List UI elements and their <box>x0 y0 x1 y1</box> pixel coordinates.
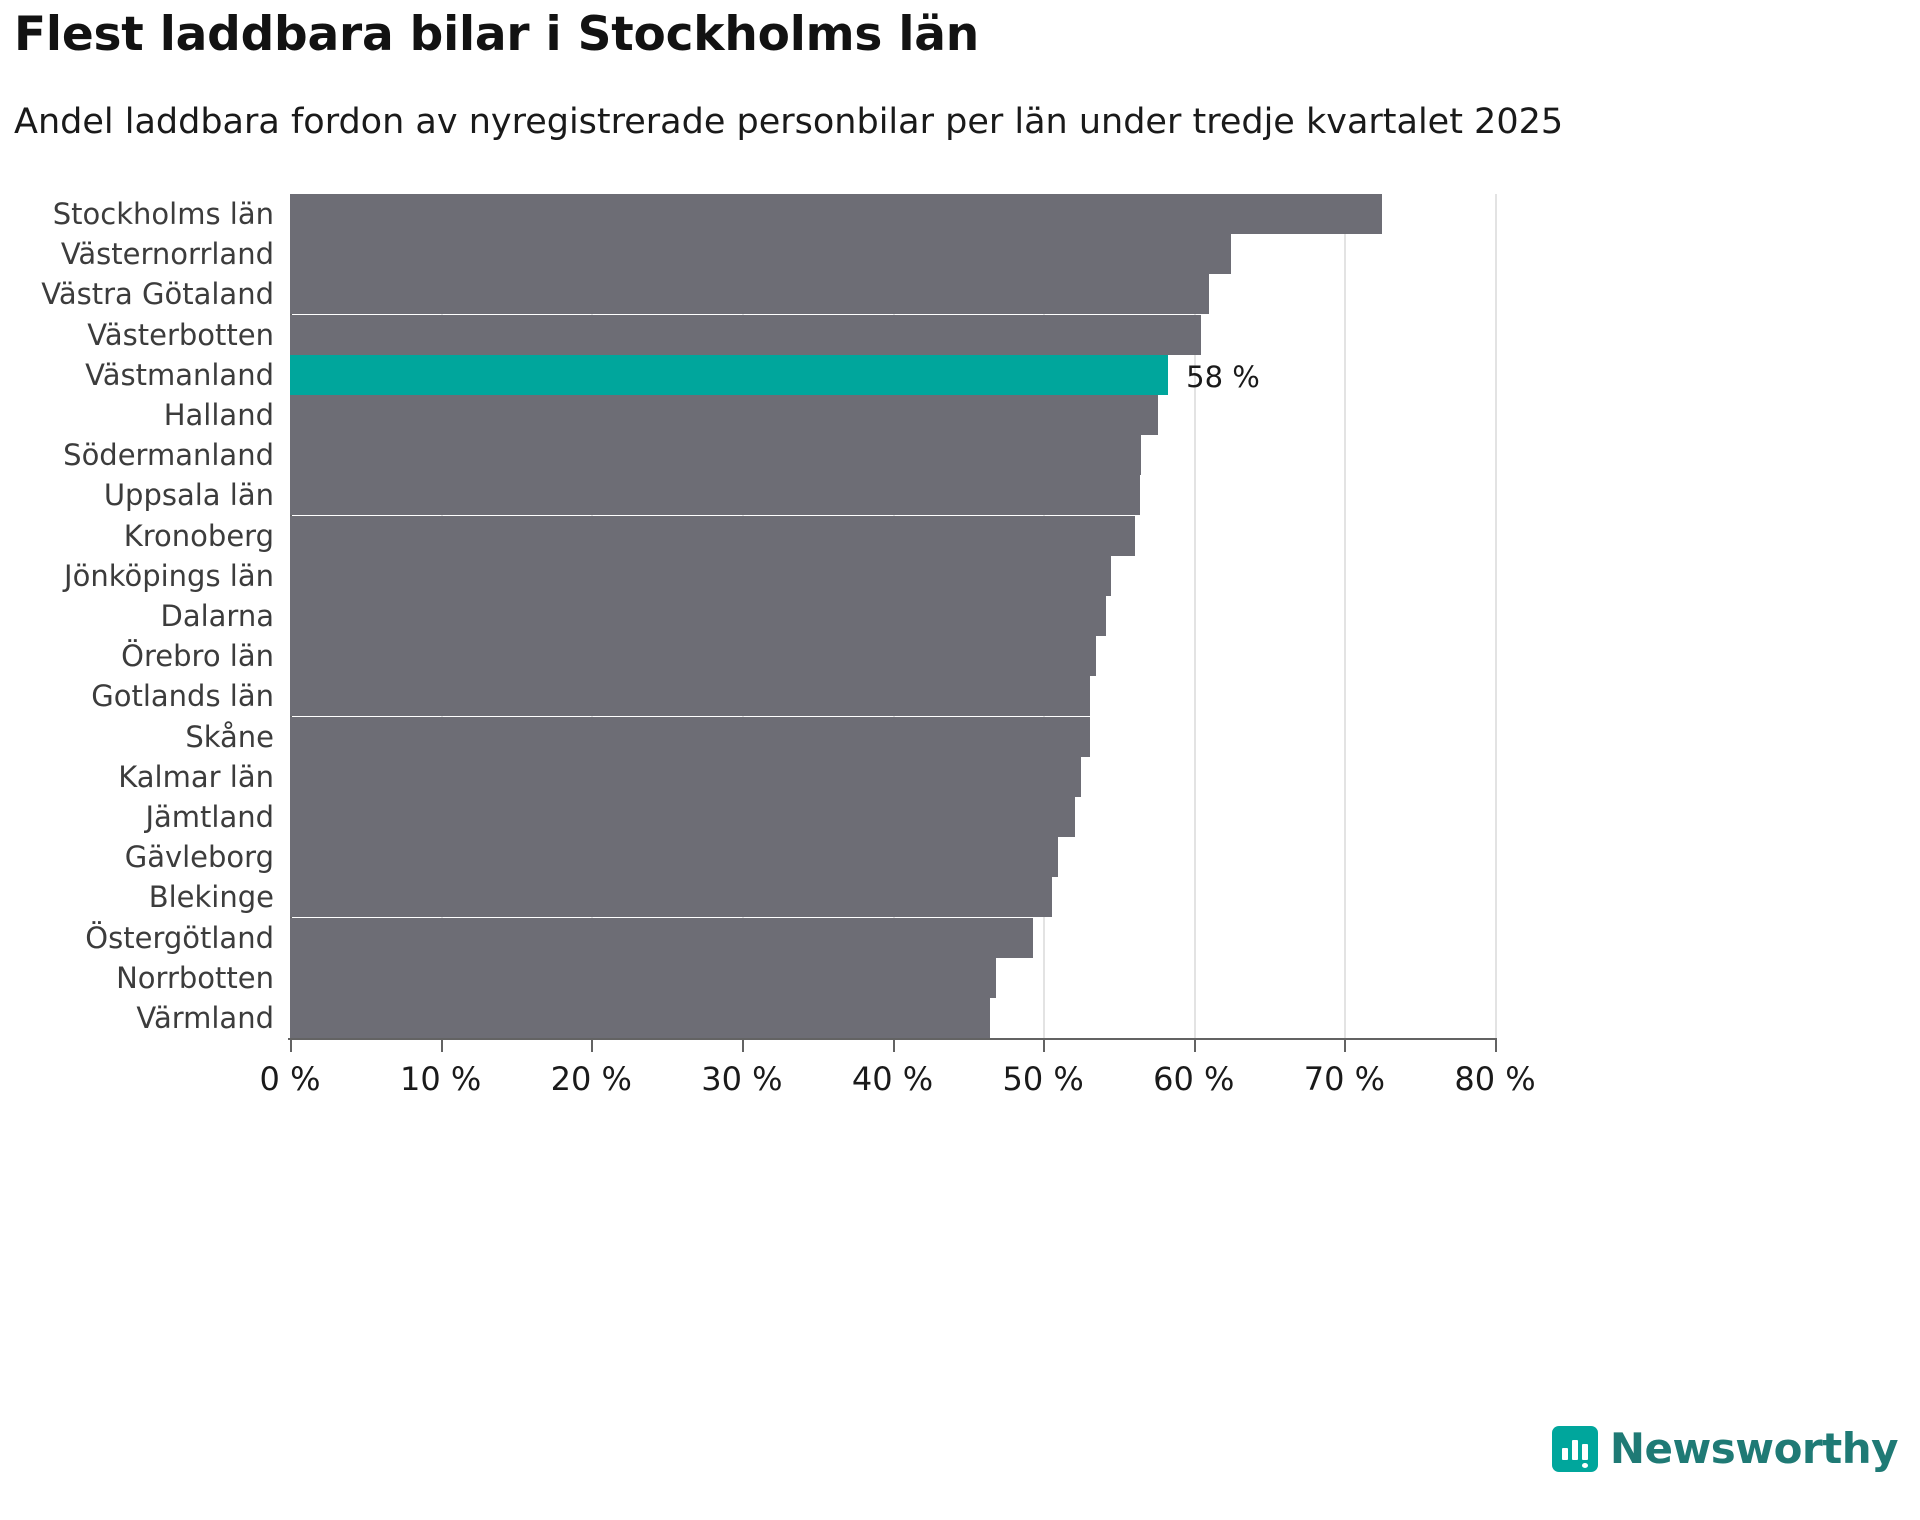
y-axis-label: Uppsala län <box>104 475 274 515</box>
bar-row <box>290 757 1495 797</box>
x-axis-tick <box>1344 1038 1346 1052</box>
bar-row: 58 % <box>290 355 1495 395</box>
bar-row <box>290 918 1495 958</box>
bar-skåne[interactable] <box>290 717 1090 757</box>
bar-västernorrland[interactable] <box>290 234 1231 274</box>
bar-värmland[interactable] <box>290 998 990 1038</box>
y-axis-label: Gotlands län <box>91 676 274 716</box>
newsworthy-logo[interactable]: Newsworthy <box>1552 1426 1898 1472</box>
y-axis-label: Kronoberg <box>124 516 274 556</box>
bar-row <box>290 717 1495 757</box>
page-subtitle: Andel laddbara fordon av nyregistrerade … <box>14 101 1914 143</box>
y-axis-label: Halland <box>164 395 274 435</box>
x-axis-tick-label: 60 % <box>1153 1060 1234 1098</box>
bar-row <box>290 998 1495 1038</box>
bar-row <box>290 435 1495 475</box>
bar-västra-götaland[interactable] <box>290 274 1209 314</box>
x-axis-tick <box>1194 1038 1196 1052</box>
bar-halland[interactable] <box>290 395 1158 435</box>
bar-jönköpings-län[interactable] <box>290 556 1111 596</box>
bar-dalarna[interactable] <box>290 596 1106 636</box>
bar-chart: 58 % Stockholms länVästernorrlandVästra … <box>0 178 1920 1358</box>
y-axis-label: Västmanland <box>85 355 274 395</box>
page-title: Flest laddbara bilar i Stockholms län <box>14 8 1904 62</box>
y-axis-label: Örebro län <box>121 636 274 676</box>
bar-row <box>290 516 1495 556</box>
x-axis-tick-label: 80 % <box>1454 1060 1535 1098</box>
y-axis-label: Kalmar län <box>118 757 274 797</box>
y-axis-label: Gävleborg <box>125 837 274 877</box>
x-axis: 0 %10 %20 %30 %40 %50 %60 %70 %80 % <box>290 1038 1495 1128</box>
bar-chart-icon <box>1552 1426 1598 1472</box>
bar-value-label: 58 % <box>1186 360 1260 394</box>
y-axis-label: Västra Götaland <box>41 274 274 314</box>
x-axis-tick-label: 40 % <box>852 1060 933 1098</box>
bar-västerbotten[interactable] <box>290 315 1201 355</box>
x-axis-tick <box>893 1038 895 1052</box>
x-axis-tick-label: 10 % <box>400 1060 481 1098</box>
bar-row <box>290 556 1495 596</box>
x-axis-tick <box>1495 1038 1497 1052</box>
y-axis-label: Jämtland <box>145 797 274 837</box>
bar-row <box>290 958 1495 998</box>
y-axis-label: Blekinge <box>149 877 274 917</box>
bar-row <box>290 596 1495 636</box>
bar-row <box>290 475 1495 515</box>
gridline <box>1495 194 1497 1038</box>
x-axis-tick <box>441 1038 443 1052</box>
bar-jämtland[interactable] <box>290 797 1075 837</box>
bar-row <box>290 676 1495 716</box>
bar-kalmar-län[interactable] <box>290 757 1081 797</box>
y-axis-label: Norrbotten <box>116 958 274 998</box>
x-axis-tick <box>591 1038 593 1052</box>
y-axis-label: Västerbotten <box>87 315 274 355</box>
bar-östergötland[interactable] <box>290 918 1033 958</box>
x-axis-tick <box>290 1038 292 1052</box>
y-axis-label: Skåne <box>185 717 274 757</box>
bar-örebro-län[interactable] <box>290 636 1096 676</box>
bar-row <box>290 837 1495 877</box>
logo-wordmark: Newsworthy <box>1610 1428 1898 1470</box>
plot-area: 58 % <box>290 194 1495 1038</box>
x-axis-tick-label: 70 % <box>1304 1060 1385 1098</box>
bar-row <box>290 797 1495 837</box>
bar-row <box>290 234 1495 274</box>
bar-row <box>290 395 1495 435</box>
y-axis-label: Stockholms län <box>53 194 274 234</box>
bar-row <box>290 315 1495 355</box>
bar-södermanland[interactable] <box>290 435 1141 475</box>
bar-row <box>290 194 1495 234</box>
y-axis-label: Östergötland <box>85 918 274 958</box>
y-axis-label: Västernorrland <box>61 234 274 274</box>
bar-row <box>290 877 1495 917</box>
x-axis-tick-label: 50 % <box>1002 1060 1083 1098</box>
bar-kronoberg[interactable] <box>290 516 1135 556</box>
y-axis-label: Södermanland <box>63 435 274 475</box>
x-axis-tick-label: 0 % <box>260 1060 321 1098</box>
bar-row <box>290 274 1495 314</box>
bar-västmanland[interactable] <box>290 355 1168 395</box>
y-axis-label: Jönköpings län <box>64 556 274 596</box>
x-axis-tick <box>742 1038 744 1052</box>
bar-gotlands-län[interactable] <box>290 676 1090 716</box>
x-axis-tick <box>1043 1038 1045 1052</box>
x-axis-tick-label: 20 % <box>551 1060 632 1098</box>
bar-norrbotten[interactable] <box>290 958 996 998</box>
bar-uppsala-län[interactable] <box>290 475 1140 515</box>
y-axis-label: Dalarna <box>161 596 275 636</box>
footer: Newsworthy <box>0 1418 1920 1504</box>
bar-stockholms-län[interactable] <box>290 194 1382 234</box>
x-axis-tick-label: 30 % <box>701 1060 782 1098</box>
chart-page: Flest laddbara bilar i Stockholms län An… <box>0 0 1920 1520</box>
bar-row <box>290 636 1495 676</box>
y-axis-label: Värmland <box>136 998 274 1038</box>
bar-blekinge[interactable] <box>290 877 1052 917</box>
bar-gävleborg[interactable] <box>290 837 1058 877</box>
